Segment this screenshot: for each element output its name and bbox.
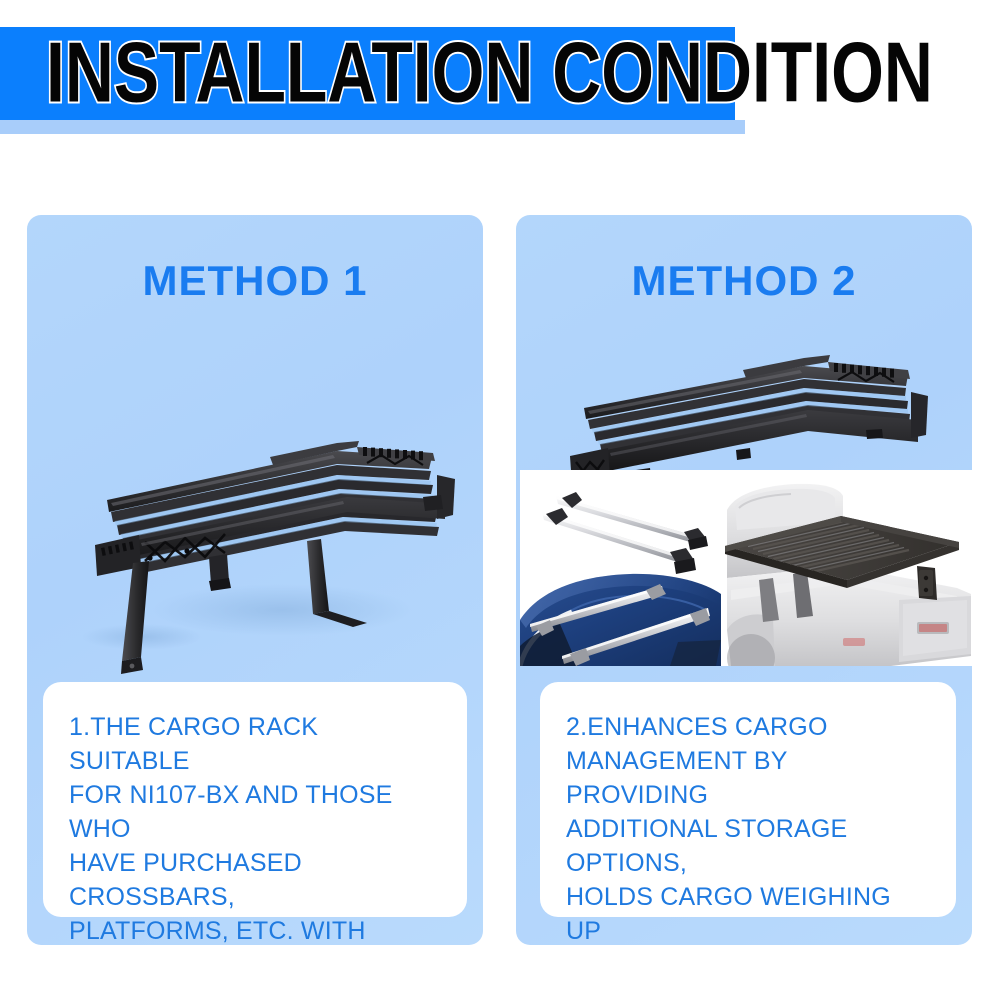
method-1-title: METHOD 1 bbox=[27, 257, 483, 305]
page-title: INSTALLATION CONDITION bbox=[46, 21, 933, 123]
method-1-description-card: 1.THE CARGO RACK SUITABLE FOR NI107-BX A… bbox=[43, 682, 467, 917]
pickup-truck-with-platform-photo bbox=[721, 470, 972, 666]
method-2-panel: METHOD 2 bbox=[516, 215, 972, 945]
header-banner: INSTALLATION CONDITION bbox=[0, 27, 735, 133]
method-1-description-text: 1.THE CARGO RACK SUITABLE FOR NI107-BX A… bbox=[69, 710, 441, 945]
method-1-panel: METHOD 1 bbox=[27, 215, 483, 945]
method-2-description-text: 2.ENHANCES CARGO MANAGEMENT BY PROVIDING… bbox=[566, 710, 930, 945]
roof-crossbars-photo bbox=[520, 470, 721, 666]
method-2-description-card: 2.ENHANCES CARGO MANAGEMENT BY PROVIDING… bbox=[540, 682, 956, 917]
product-shadow bbox=[152, 584, 412, 636]
method-2-title: METHOD 2 bbox=[516, 257, 972, 305]
method-1-product-image bbox=[37, 385, 477, 675]
method-2-photo-strip bbox=[520, 470, 972, 666]
